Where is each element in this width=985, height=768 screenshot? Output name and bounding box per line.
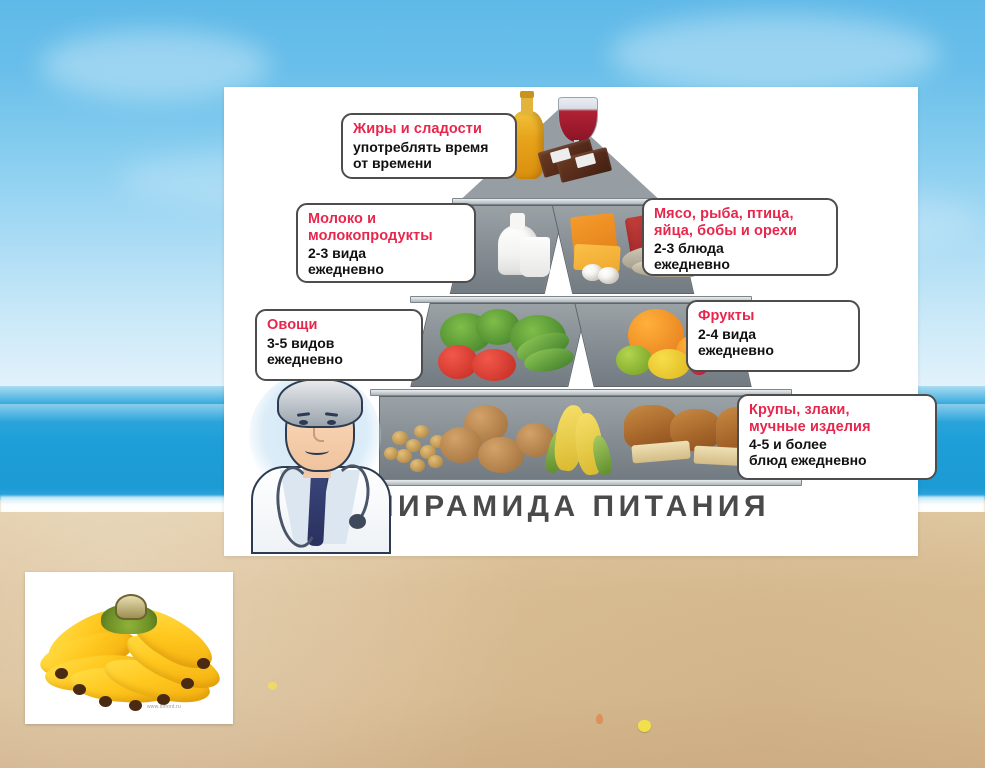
callout-fats-sweets[interactable]: Жиры и сладости употреблять время от вре… (341, 113, 517, 179)
callout-grains[interactable]: Крупы, злаки, мучные изделия 4-5 и более… (737, 394, 937, 480)
callout-vegetables[interactable]: Овощи 3-5 видов ежедневно (255, 309, 423, 381)
callout-fruits[interactable]: Фрукты 2-4 вида ежедневно (686, 300, 860, 372)
callout-heading: Жиры и сладости (353, 121, 506, 138)
callout-heading: Молоко и молокопродукты (308, 211, 465, 244)
banana-stem (115, 594, 147, 620)
callout-body: 2-3 вида ежедневно (308, 245, 465, 277)
seashell-icon (638, 720, 651, 732)
callout-body: 2-4 вида ежедневно (698, 326, 849, 358)
callout-milk[interactable]: Молоко и молокопродукты 2-3 вида ежеднев… (296, 203, 476, 283)
pyramid-shelf (370, 389, 792, 396)
callout-body: употреблять время от времени (353, 139, 506, 171)
banana-image-card[interactable]: www.shfont.ru (25, 572, 233, 724)
egg-icon (598, 267, 619, 284)
callout-body: 3-5 видов ежедневно (267, 335, 412, 367)
callout-body: 4-5 и более блюд ежедневно (749, 436, 926, 468)
doctor-avatar (243, 362, 393, 548)
seashell-icon (596, 714, 603, 724)
tomato-icon (472, 349, 516, 381)
callout-meat[interactable]: Мясо, рыба, птица, яйца, бобы и орехи 2-… (642, 198, 838, 276)
callout-body: 2-3 блюда ежедневно (654, 240, 827, 272)
doctor-hair (277, 378, 363, 428)
callout-heading: Овощи (267, 317, 412, 334)
seashell-icon (268, 682, 277, 690)
lemon-icon (648, 349, 690, 379)
callout-heading: Фрукты (698, 308, 849, 325)
eye-icon (327, 420, 336, 425)
milk-glass-icon (520, 237, 550, 277)
potato-icon (440, 427, 482, 463)
pyramid-base-shelf (362, 479, 802, 486)
cloud-icon (610, 14, 940, 94)
image-watermark: www.shfont.ru (147, 704, 181, 710)
slide-canvas: ПИРАМИДА ПИТАНИЯ Жиры и сладости употреб… (0, 0, 985, 768)
lime-icon (616, 345, 652, 375)
eye-icon (299, 420, 308, 425)
callout-heading: Крупы, злаки, мучные изделия (749, 402, 926, 435)
callout-heading: Мясо, рыба, птица, яйца, бобы и орехи (654, 206, 827, 239)
